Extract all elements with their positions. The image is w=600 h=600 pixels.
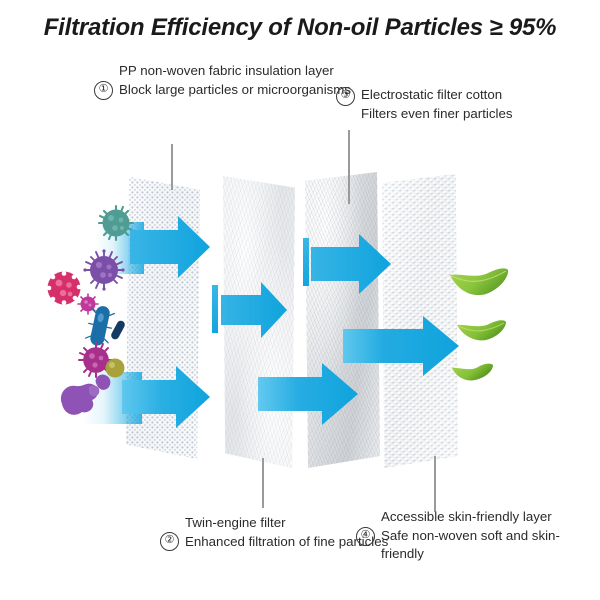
leader-line-callout-3 (348, 130, 350, 204)
germ-amoeba-purple-small (93, 372, 113, 392)
callout-3-number: ③ (336, 87, 355, 106)
callout-1-text: PP non-woven fabric insulation layer Blo… (119, 62, 351, 99)
arrow-layer1-top (130, 216, 210, 278)
page-title: Filtration Efficiency of Non-oil Particl… (0, 14, 600, 42)
arrow-layer3-top (311, 234, 391, 294)
callout-4-number: ④ (356, 527, 375, 546)
callout-skin-friendly: ④ Accessible skin-friendly layer Safe no… (356, 508, 600, 564)
leaf-medium (455, 318, 507, 344)
leader-line-callout-1 (171, 144, 173, 190)
leaf-large (448, 265, 510, 299)
leader-line-callout-4 (434, 456, 436, 512)
callout-electrostatic-cotton: ③ Electrostatic filter cotton Filters ev… (336, 86, 513, 123)
arrow-layer2-middle-stub (212, 285, 218, 333)
callout-2-number: ② (160, 532, 179, 551)
callout-3-text: Electrostatic filter cotton Filters even… (361, 86, 513, 123)
germ-bacillus-navy-small (110, 318, 126, 342)
callout-pp-non-woven: ① PP non-woven fabric insulation layer B… (94, 62, 351, 99)
arrow-layer2-middle (221, 282, 287, 338)
leaf-small (450, 362, 494, 384)
infographic-canvas: Filtration Efficiency of Non-oil Particl… (0, 0, 600, 600)
arrow-layer1-bottom (122, 366, 210, 428)
callout-twin-engine-filter: ② Twin-engine filter Enhanced filtration… (160, 514, 388, 551)
arrow-layer3-middle (343, 316, 459, 376)
leader-line-callout-2 (262, 458, 264, 508)
germ-virus-purple (82, 248, 126, 292)
callout-4-text: Accessible skin-friendly layer Safe non-… (381, 508, 600, 564)
callout-1-number: ① (94, 81, 113, 100)
arrow-layer3-top-stub (303, 238, 309, 286)
